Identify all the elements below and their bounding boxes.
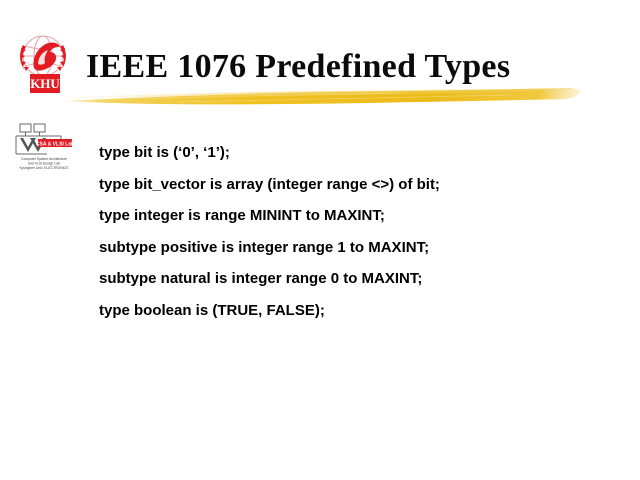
body-content: type bit is (‘0’, ‘1’); type bit_vector … bbox=[99, 137, 619, 326]
gold-brush-underline bbox=[60, 84, 585, 108]
khu-wordmark: KHU bbox=[30, 76, 60, 91]
list-item: subtype natural is integer range 0 to MA… bbox=[99, 263, 619, 295]
list-item: type bit is (‘0’, ‘1’); bbox=[99, 137, 619, 169]
page-title: IEEE 1076 Predefined Types bbox=[86, 48, 510, 86]
list-item: type bit_vector is array (integer range … bbox=[99, 169, 619, 201]
lab-caption-line3: Kyunghee Univ. ELECTRONICS bbox=[20, 166, 69, 170]
lab-caption-line2: and VLSI Design Lab bbox=[28, 162, 60, 166]
lab-caption-line1: Computer System Architecture bbox=[21, 157, 67, 161]
slide-canvas: KHU IEEE 1076 Predefined Types bbox=[0, 0, 640, 480]
list-item: type boolean is (TRUE, FALSE); bbox=[99, 295, 619, 327]
list-item: subtype positive is integer range 1 to M… bbox=[99, 232, 619, 264]
list-item: type integer is range MININT to MAXINT; bbox=[99, 200, 619, 232]
csa-vlsi-lab-logo-icon: CSA & VLSI Lab Computer System Architect… bbox=[13, 122, 75, 174]
lab-badge-label: CSA & VLSI Lab bbox=[36, 141, 74, 147]
